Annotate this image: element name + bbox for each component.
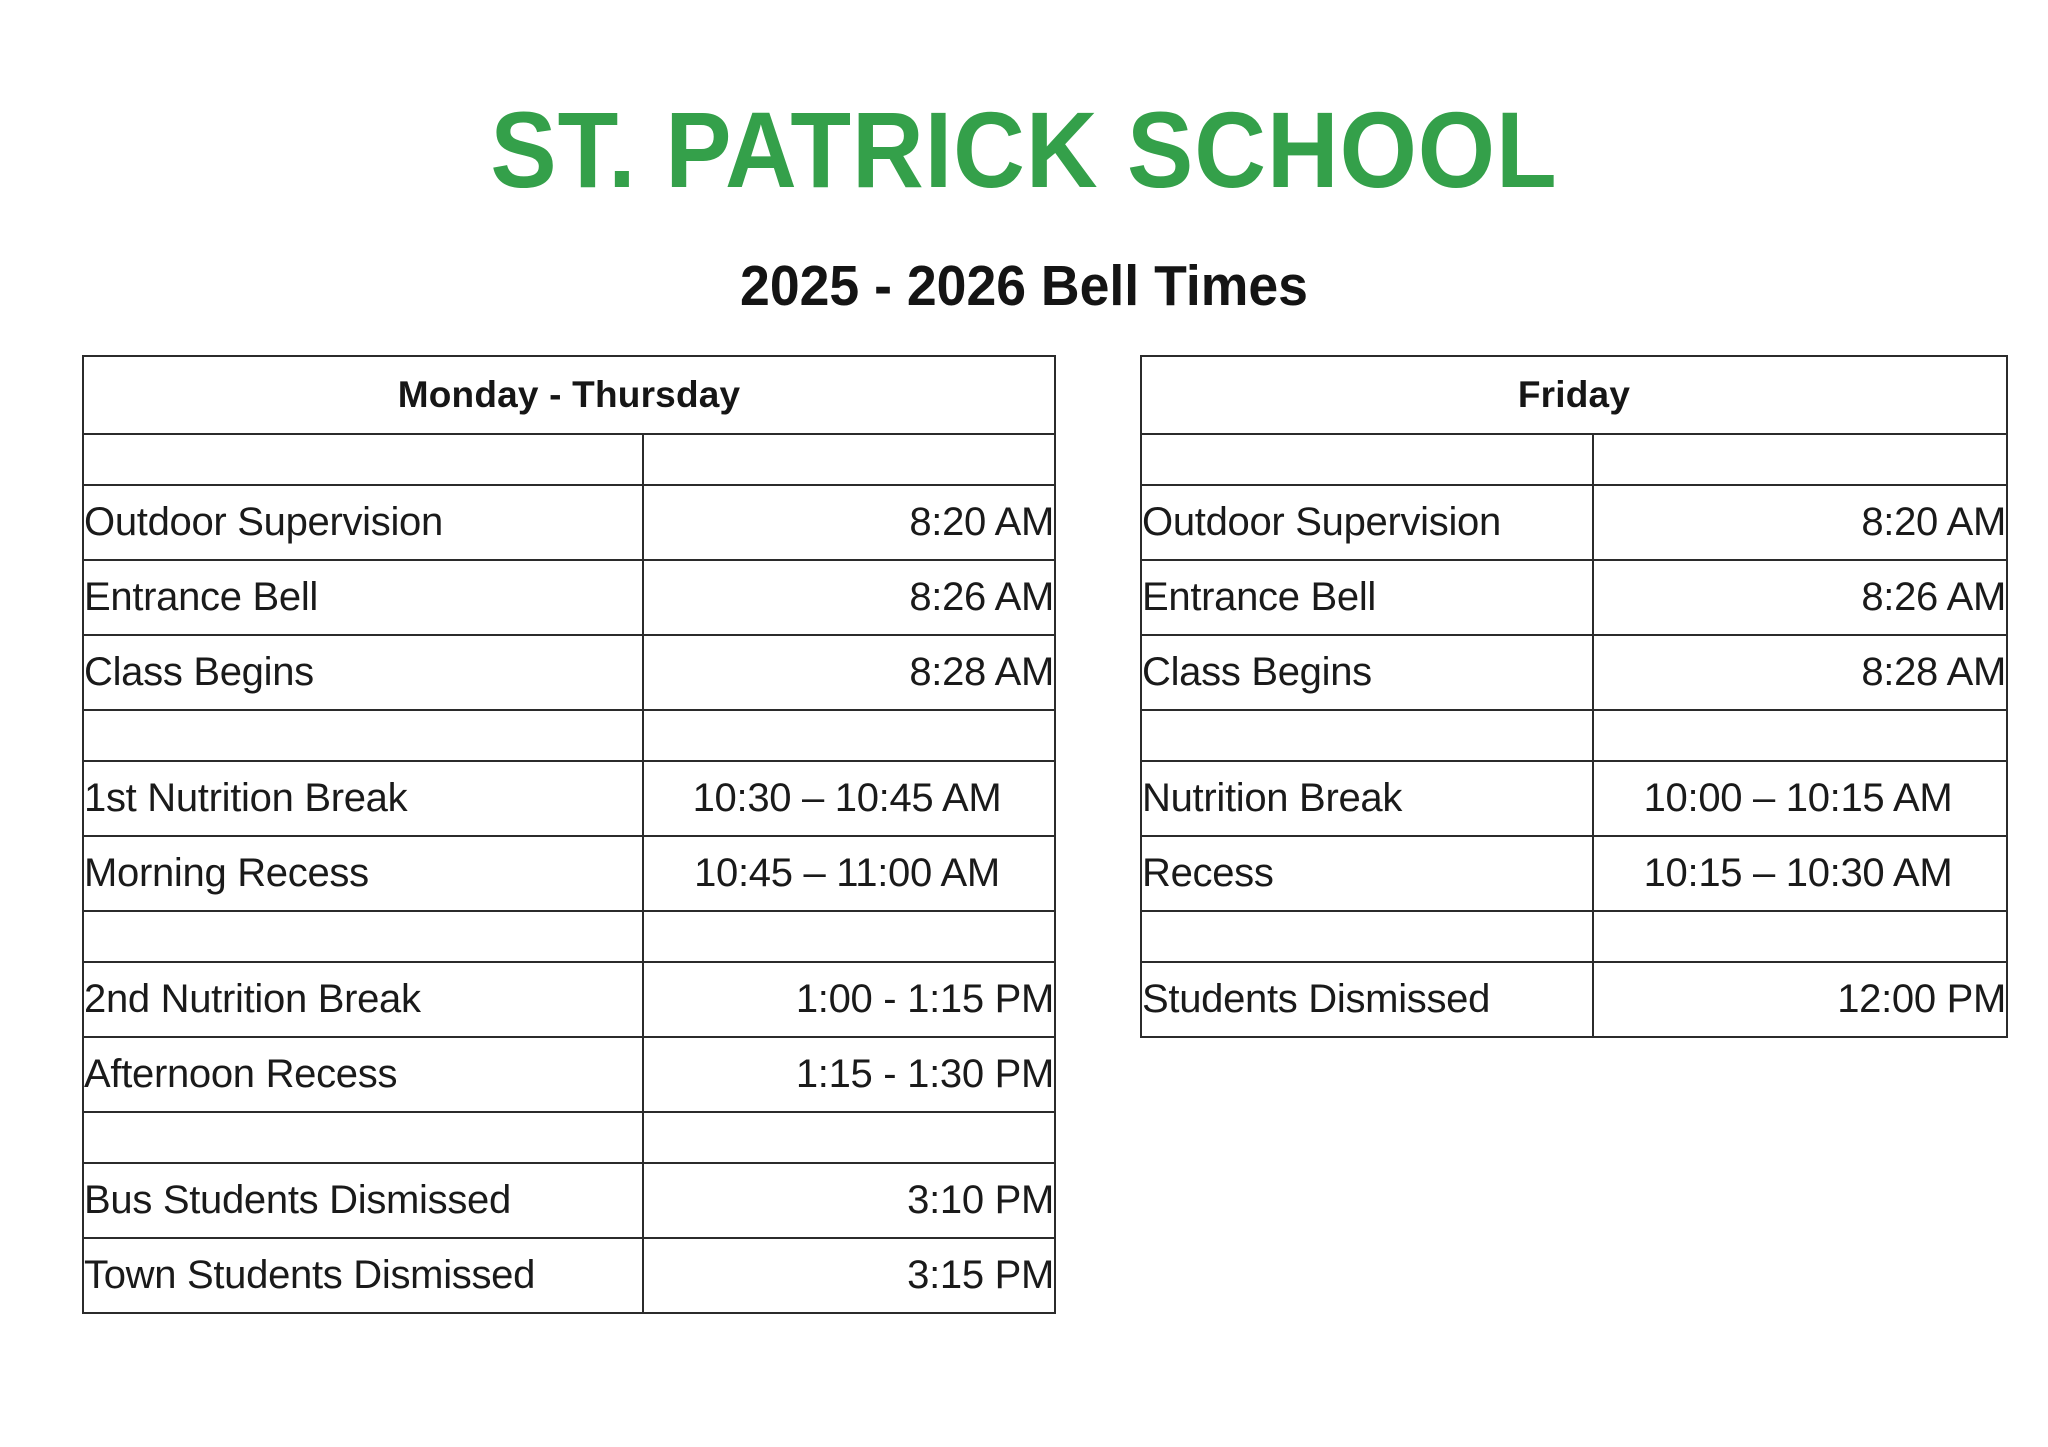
event-time-cell: 8:26 AM: [1593, 560, 2007, 635]
event-time-cell: 8:20 AM: [1593, 485, 2007, 560]
event-label-cell: Class Begins: [83, 635, 643, 710]
spacer-cell: [1141, 710, 1593, 761]
event-label-cell: Nutrition Break: [1141, 761, 1593, 836]
page-title: ST. PATRICK SCHOOL: [82, 96, 1966, 204]
spacer-cell: [1141, 434, 1593, 485]
spacer-cell: [643, 434, 1055, 485]
event-label-cell: Entrance Bell: [83, 560, 643, 635]
event-time-cell: 8:26 AM: [643, 560, 1055, 635]
table-row: Outdoor Supervision8:20 AM: [83, 485, 1055, 560]
event-label-cell: Students Dismissed: [1141, 962, 1593, 1037]
table-row: Bus Students Dismissed3:10 PM: [83, 1163, 1055, 1238]
event-label-cell: Afternoon Recess: [83, 1037, 643, 1112]
event-time-cell: 10:00 – 10:15 AM: [1593, 761, 2007, 836]
table-header-row: Friday: [1141, 356, 2007, 434]
bell-times-table-friday: Friday Outdoor Supervision8:20 AMEntranc…: [1140, 355, 2008, 1038]
spacer-cell: [83, 911, 643, 962]
event-time-cell: 10:45 – 11:00 AM: [643, 836, 1055, 911]
event-time-cell: 3:10 PM: [643, 1163, 1055, 1238]
table-row: Town Students Dismissed3:15 PM: [83, 1238, 1055, 1313]
spacer-cell: [1593, 434, 2007, 485]
table-row: Students Dismissed12:00 PM: [1141, 962, 2007, 1037]
event-time-cell: 10:15 – 10:30 AM: [1593, 836, 2007, 911]
event-label-cell: Recess: [1141, 836, 1593, 911]
event-time-cell: 1:00 - 1:15 PM: [643, 962, 1055, 1037]
event-label-cell: Town Students Dismissed: [83, 1238, 643, 1313]
table-spacer-row: [1141, 710, 2007, 761]
table-spacer-row: [83, 911, 1055, 962]
event-label-cell: Outdoor Supervision: [1141, 485, 1593, 560]
spacer-cell: [83, 434, 643, 485]
event-time-cell: 1:15 - 1:30 PM: [643, 1037, 1055, 1112]
table-body: Outdoor Supervision8:20 AMEntrance Bell8…: [83, 434, 1055, 1313]
event-label-cell: Class Begins: [1141, 635, 1593, 710]
table-row: Afternoon Recess1:15 - 1:30 PM: [83, 1037, 1055, 1112]
event-time-cell: 12:00 PM: [1593, 962, 2007, 1037]
table-row: Recess10:15 – 10:30 AM: [1141, 836, 2007, 911]
spacer-cell: [1141, 911, 1593, 962]
event-time-cell: 8:28 AM: [643, 635, 1055, 710]
table-body: Outdoor Supervision8:20 AMEntrance Bell8…: [1141, 434, 2007, 1037]
spacer-cell: [83, 710, 643, 761]
event-time-cell: 8:28 AM: [1593, 635, 2007, 710]
table-spacer-row: [1141, 911, 2007, 962]
event-label-cell: 2nd Nutrition Break: [83, 962, 643, 1037]
event-label-cell: 1st Nutrition Break: [83, 761, 643, 836]
bell-times-page: ST. PATRICK SCHOOL 2025 - 2026 Bell Time…: [0, 0, 2048, 1447]
table-row: Entrance Bell8:26 AM: [1141, 560, 2007, 635]
event-label-cell: Entrance Bell: [1141, 560, 1593, 635]
table-header-row: Monday - Thursday: [83, 356, 1055, 434]
table-row: Nutrition Break10:00 – 10:15 AM: [1141, 761, 2007, 836]
bell-times-table-monday-thursday: Monday - Thursday Outdoor Supervision8:2…: [82, 355, 1056, 1314]
spacer-cell: [83, 1112, 643, 1163]
spacer-cell: [643, 710, 1055, 761]
spacer-cell: [643, 1112, 1055, 1163]
table-header-monday-thursday: Monday - Thursday: [83, 356, 1055, 434]
table-header-friday: Friday: [1141, 356, 2007, 434]
table-row: Outdoor Supervision8:20 AM: [1141, 485, 2007, 560]
event-time-cell: 10:30 – 10:45 AM: [643, 761, 1055, 836]
event-label-cell: Outdoor Supervision: [83, 485, 643, 560]
table-spacer-row: [83, 434, 1055, 485]
table-spacer-row: [1141, 434, 2007, 485]
event-label-cell: Morning Recess: [83, 836, 643, 911]
spacer-cell: [643, 911, 1055, 962]
event-time-cell: 3:15 PM: [643, 1238, 1055, 1313]
table-row: Entrance Bell8:26 AM: [83, 560, 1055, 635]
event-label-cell: Bus Students Dismissed: [83, 1163, 643, 1238]
table-spacer-row: [83, 1112, 1055, 1163]
table-spacer-row: [83, 710, 1055, 761]
spacer-cell: [1593, 710, 2007, 761]
table-row: 2nd Nutrition Break1:00 - 1:15 PM: [83, 962, 1055, 1037]
event-time-cell: 8:20 AM: [643, 485, 1055, 560]
table-row: Class Begins8:28 AM: [1141, 635, 2007, 710]
table-row: Morning Recess10:45 – 11:00 AM: [83, 836, 1055, 911]
spacer-cell: [1593, 911, 2007, 962]
table-row: 1st Nutrition Break10:30 – 10:45 AM: [83, 761, 1055, 836]
document-subtitle: 2025 - 2026 Bell Times: [61, 258, 1986, 315]
table-row: Class Begins8:28 AM: [83, 635, 1055, 710]
